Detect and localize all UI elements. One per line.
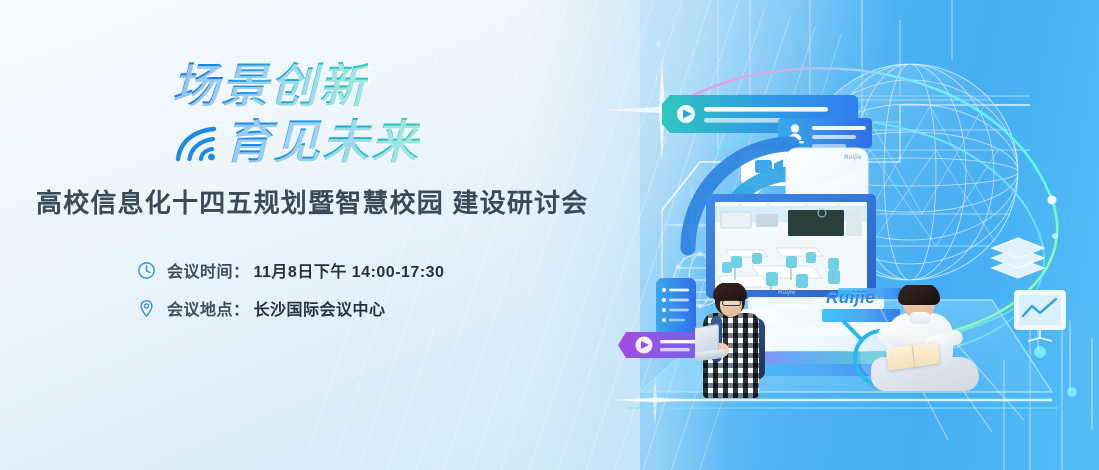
meeting-time-row: 会议时间： 11月8日下午 14:00-17:30 <box>137 258 444 282</box>
headline-line-2: 育见未来 <box>172 118 420 165</box>
banner-subtitle: 高校信息化十四五规划暨智慧校园 建设研讨会 <box>36 183 588 220</box>
headline-line-1: 场景创新 <box>172 62 420 109</box>
headline-text-1: 场景创新 <box>172 62 368 109</box>
chart-board-card <box>1014 290 1066 341</box>
classroom-photo <box>715 202 867 290</box>
brand-monitor-label: Ruijie <box>778 290 796 296</box>
meeting-time-label: 会议时间： <box>167 258 250 282</box>
copy-block: 场景创新 育见未来 高校信息化十四五规划暨智慧校园 建设研讨会 <box>0 0 620 470</box>
meeting-time-value: 11月8日下午 14:00-17:30 <box>254 258 445 282</box>
meta-info-block: 会议时间： 11月8日下午 14:00-17:30 会议地点： 长沙国际会议中心 <box>137 258 444 334</box>
meeting-location-value: 长沙国际会议中心 <box>254 296 386 320</box>
brand-device-label: Ruijie <box>844 155 862 161</box>
headline: 场景创新 育见未来 <box>172 62 420 165</box>
checklist-card <box>656 278 696 336</box>
student-with-laptop <box>695 283 767 398</box>
illustration-vector <box>600 0 1099 470</box>
meeting-location-label: 会议地点： <box>167 296 250 320</box>
meeting-location-row: 会议地点： 长沙国际会议中心 <box>137 296 444 320</box>
event-banner: 场景创新 育见未来 高校信息化十四五规划暨智慧校园 建设研讨会 <box>0 0 1099 470</box>
brand-watermark: Ruijie <box>826 288 875 308</box>
wifi-signal-icon <box>172 123 218 163</box>
laptop-icon <box>695 327 725 363</box>
student-reading-book <box>865 285 983 400</box>
headline-text-2: 育见未来 <box>224 118 420 165</box>
map-pin-icon <box>137 299 156 318</box>
illustration: Ruijie Ruijie Ruijie <box>600 0 1099 470</box>
books-icon <box>992 238 1044 278</box>
clock-icon <box>137 261 156 280</box>
